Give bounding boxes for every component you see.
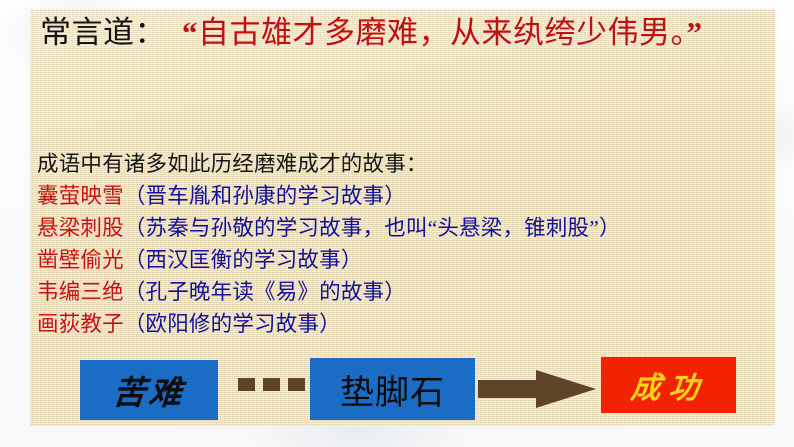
title-lead: 常言道： xyxy=(40,15,166,50)
idiom-gloss: （苏秦与孙敬的学习故事，也叫“头悬梁，锥刺股”） xyxy=(124,216,621,240)
title-close-quote: ” xyxy=(687,15,703,50)
idiom-gloss: （西汉匡衡的学习故事） xyxy=(124,248,363,272)
idiom-gloss: （晋车胤和孙康的学习故事） xyxy=(124,184,406,208)
title-open-quote: “ xyxy=(182,15,198,50)
list-item: 囊萤映雪（晋车胤和孙康的学习故事） xyxy=(37,180,777,212)
intro-text: 成语中有诸多如此历经磨难成才的故事： xyxy=(37,152,428,176)
list-item: 凿壁偷光（西汉匡衡的学习故事） xyxy=(37,244,777,276)
list-item: 画荻教子（欧阳修的学习故事） xyxy=(37,308,777,340)
title-quote-text: 自古雄才多磨难，从来纨绔少伟男。 xyxy=(198,15,687,50)
idiom-gloss: （孔子晚年读《易》的故事） xyxy=(124,280,406,304)
idiom-name: 囊萤映雪 xyxy=(37,184,124,208)
list-item: 韦编三绝（孔子晚年读《易》的故事） xyxy=(37,276,777,308)
idiom-name: 韦编三绝 xyxy=(37,280,124,304)
idiom-name: 画荻教子 xyxy=(37,312,124,336)
idiom-list: 成语中有诸多如此历经磨难成才的故事： 囊萤映雪（晋车胤和孙康的学习故事） 悬梁刺… xyxy=(37,148,777,340)
slide-title: 常言道：“自古雄才多磨难，从来纨绔少伟男。” xyxy=(40,14,760,52)
idiom-name: 凿壁偷光 xyxy=(37,248,124,272)
slide-canvas: 常言道：“自古雄才多磨难，从来纨绔少伟男。” 成语中有诸多如此历经磨难成才的故事… xyxy=(0,0,794,447)
idiom-name: 悬梁刺股 xyxy=(37,216,124,240)
intro-line: 成语中有诸多如此历经磨难成才的故事： xyxy=(37,148,777,180)
idiom-gloss: （欧阳修的学习故事） xyxy=(124,312,341,336)
list-item: 悬梁刺股（苏秦与孙敬的学习故事，也叫“头悬梁，锥刺股”） xyxy=(37,212,777,244)
